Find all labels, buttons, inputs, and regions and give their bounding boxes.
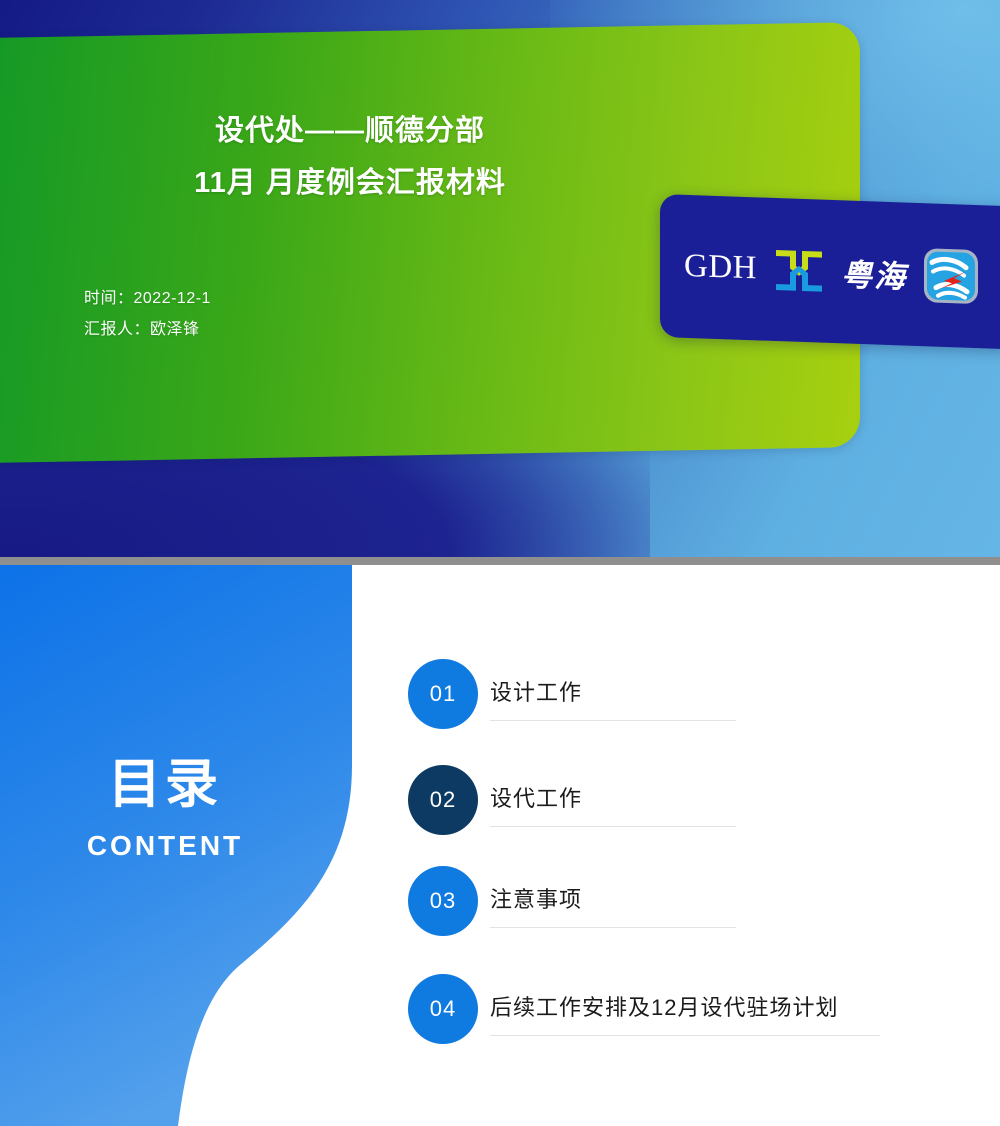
toc-rule-01 xyxy=(490,720,736,721)
toc-text-wrap-01: 设计工作 xyxy=(490,659,582,729)
gdh-butterfly-icon xyxy=(772,242,826,298)
title-line-1: 设代处——顺德分部 xyxy=(0,105,700,157)
toc-number-03: 03 xyxy=(430,888,456,914)
toc-list: 01 设计工作 02 设代工作 03 xyxy=(408,565,998,1126)
toc-rule-04 xyxy=(490,1035,880,1036)
toc-number-02: 02 xyxy=(430,787,456,813)
toc-item-04[interactable]: 04 后续工作安排及12月设代驻场计划 xyxy=(408,974,838,1044)
title-meta-block: 时间：2022-12-1 汇报人：欧泽锋 xyxy=(84,283,211,345)
toc-rule-02 xyxy=(490,826,736,827)
toc-label-03: 注意事项 xyxy=(490,882,582,920)
slide-deck: 设代处——顺德分部 11月 月度例会汇报材料 时间：2022-12-1 汇报人：… xyxy=(0,0,1000,1126)
toc-item-01[interactable]: 01 设计工作 xyxy=(408,659,582,729)
toc-number-01: 01 xyxy=(430,681,456,707)
blue-curved-panel: 目录 CONTENT xyxy=(0,565,400,1126)
toc-badge-04: 04 xyxy=(408,974,478,1044)
yuehai-wordmark: 粤海 xyxy=(841,249,907,296)
title-line-2: 11月 月度例会汇报材料 xyxy=(0,157,700,209)
toc-label-01: 设计工作 xyxy=(490,675,582,713)
toc-label-02: 设代工作 xyxy=(490,781,582,819)
toc-number-04: 04 xyxy=(430,996,456,1022)
presenter-name: 汇报人：欧泽锋 xyxy=(84,314,211,345)
slide-separator-bar xyxy=(0,557,1000,565)
toc-text-wrap-03: 注意事项 xyxy=(490,866,582,936)
title-slide: 设代处——顺德分部 11月 月度例会汇报材料 时间：2022-12-1 汇报人：… xyxy=(0,0,1000,557)
toc-rule-03 xyxy=(490,927,736,928)
presentation-date: 时间：2022-12-1 xyxy=(84,283,211,314)
toc-text-wrap-02: 设代工作 xyxy=(490,765,582,835)
toc-badge-01: 01 xyxy=(408,659,478,729)
title-block: 设代处——顺德分部 11月 月度例会汇报材料 xyxy=(0,105,700,209)
toc-badge-03: 03 xyxy=(408,866,478,936)
toc-label-04: 后续工作安排及12月设代驻场计划 xyxy=(490,990,838,1028)
toc-item-03[interactable]: 03 注意事项 xyxy=(408,866,582,936)
toc-item-02[interactable]: 02 设代工作 xyxy=(408,765,582,835)
gdh-wordmark: GDH xyxy=(684,250,757,286)
yuehai-wave-badge-icon xyxy=(922,246,980,306)
toc-badge-02: 02 xyxy=(408,765,478,835)
content-slide: 目录 CONTENT 01 设计工作 02 设代工作 xyxy=(0,565,1000,1126)
logo-group: GDH 粤海 xyxy=(660,194,1000,352)
toc-text-wrap-04: 后续工作安排及12月设代驻场计划 xyxy=(490,974,838,1044)
